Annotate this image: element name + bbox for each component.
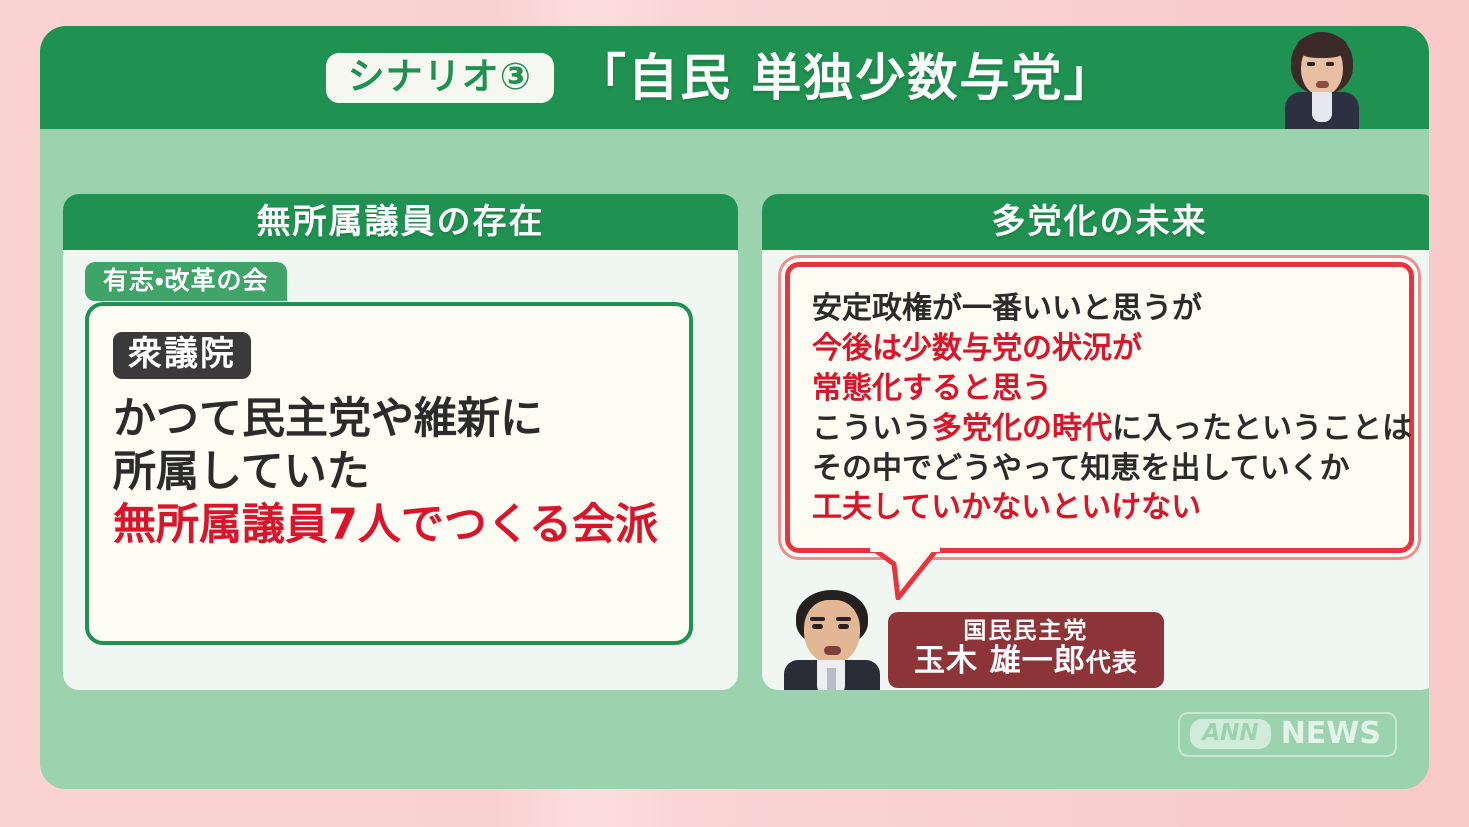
quote-line: その中でどうやって知恵を出していくか bbox=[812, 449, 1389, 489]
quote-line-accent: 今後は少数与党の状況が bbox=[812, 329, 1389, 369]
speaker-attribution: 国民民主党 玉木 雄一郎代表 bbox=[784, 588, 1164, 690]
right-panel-body: 安定政権が一番いいと思うが 今後は少数与党の状況が 常態化すると思う こういう多… bbox=[762, 250, 1429, 690]
anchor-eye-right bbox=[1326, 62, 1334, 66]
faction-tab-label: 有志・改革の会 bbox=[85, 262, 287, 301]
left-card-line: 所属していた bbox=[113, 446, 665, 499]
quote-segment: こういう bbox=[812, 411, 932, 446]
speech-bubble-wrap: 安定政権が一番いいと思うが 今後は少数与党の状況が 常態化すると思う こういう多… bbox=[785, 262, 1414, 553]
quote-line: 安定政権が一番いいと思うが bbox=[812, 289, 1389, 329]
tamaki-portrait bbox=[784, 588, 880, 690]
house-badge: 衆議院 bbox=[113, 332, 251, 379]
header-bar: シナリオ③ 「自民 単独少数与党」 bbox=[40, 26, 1429, 129]
quote-line: こういう多党化の時代に入ったということは bbox=[812, 409, 1389, 449]
page-title: 「自民 単独少数与党」 bbox=[576, 53, 1115, 103]
ann-news-watermark: ANN NEWS bbox=[1178, 712, 1397, 757]
quote-line-accent: 常態化すると思う bbox=[812, 369, 1389, 409]
anchor-mouth bbox=[1316, 81, 1329, 88]
speaker-mouth bbox=[824, 646, 841, 655]
speaker-brow-right bbox=[836, 617, 851, 621]
quote-segment: 常態化すると思う bbox=[812, 371, 1052, 406]
speaker-name-text: 玉木 雄一郎 bbox=[914, 643, 1086, 679]
header-content: シナリオ③ 「自民 単独少数与党」 bbox=[326, 53, 1116, 103]
quote-segment: その中でどうやって知恵を出していくか bbox=[812, 451, 1350, 486]
scenario-badge: シナリオ③ bbox=[326, 53, 554, 103]
anchor-eye-left bbox=[1307, 62, 1315, 66]
broadcast-graphic-stage: シナリオ③ 「自民 単独少数与党」 無所属議員の存在 有志・改革の会 bbox=[0, 0, 1469, 827]
speaker-tie bbox=[827, 668, 836, 690]
quote-segment-accent: 多党化の時代 bbox=[932, 411, 1112, 446]
ann-news-label: NEWS bbox=[1281, 719, 1381, 749]
anchor-shirt bbox=[1312, 92, 1332, 122]
left-card-text: かつて民主党や維新に 所属していた 無所属議員7人でつくる会派 bbox=[113, 393, 665, 552]
ann-brand-pill: ANN bbox=[1190, 719, 1270, 748]
quote-segment: 安定政権が一番いいと思うが bbox=[812, 291, 1202, 326]
speaker-party: 国民民主党 bbox=[914, 619, 1138, 645]
speaker-brow-left bbox=[810, 617, 825, 621]
speaker-name: 玉木 雄一郎代表 bbox=[914, 644, 1138, 679]
speaker-nameplate: 国民民主党 玉木 雄一郎代表 bbox=[888, 612, 1164, 688]
quote-segment: に入ったということは bbox=[1112, 411, 1412, 446]
panel-independent-members: 無所属議員の存在 有志・改革の会 衆議院 かつて民主党や維新に 所属していた 無… bbox=[63, 194, 738, 690]
anchor-portrait bbox=[1283, 26, 1361, 129]
left-panel-body: 有志・改革の会 衆議院 かつて民主党や維新に 所属していた 無所属議員7人でつく… bbox=[63, 250, 738, 690]
quote-speech-bubble: 安定政権が一番いいと思うが 今後は少数与党の状況が 常態化すると思う こういう多… bbox=[785, 262, 1414, 553]
speaker-eye-left bbox=[812, 624, 823, 629]
quote-segment: 工夫していかないといけない bbox=[812, 490, 1201, 525]
graphic-body: 無所属議員の存在 有志・改革の会 衆議院 かつて民主党や維新に 所属していた 無… bbox=[40, 129, 1429, 789]
right-panel-header: 多党化の未来 bbox=[762, 194, 1429, 250]
anchor-fringe bbox=[1297, 34, 1347, 58]
quote-line-accent: 工夫していかないといけない bbox=[812, 488, 1389, 528]
speaker-title-suffix: 代表 bbox=[1086, 648, 1138, 677]
left-card-line: かつて民主党や維新に bbox=[113, 393, 665, 446]
speaker-eye-right bbox=[838, 624, 849, 629]
panel-multiparty-future: 多党化の未来 安定政権が一番いいと思うが 今後は少数与党の状況が 常態化すると思… bbox=[762, 194, 1429, 690]
left-info-card: 衆議院 かつて民主党や維新に 所属していた 無所属議員7人でつくる会派 bbox=[85, 302, 693, 645]
quote-segment: 今後は少数与党の状況が bbox=[812, 331, 1142, 366]
graphic-card: シナリオ③ 「自民 単独少数与党」 無所属議員の存在 有志・改革の会 bbox=[40, 26, 1429, 789]
left-card-line-accent: 無所属議員7人でつくる会派 bbox=[113, 499, 665, 552]
left-panel-header: 無所属議員の存在 bbox=[63, 194, 738, 250]
